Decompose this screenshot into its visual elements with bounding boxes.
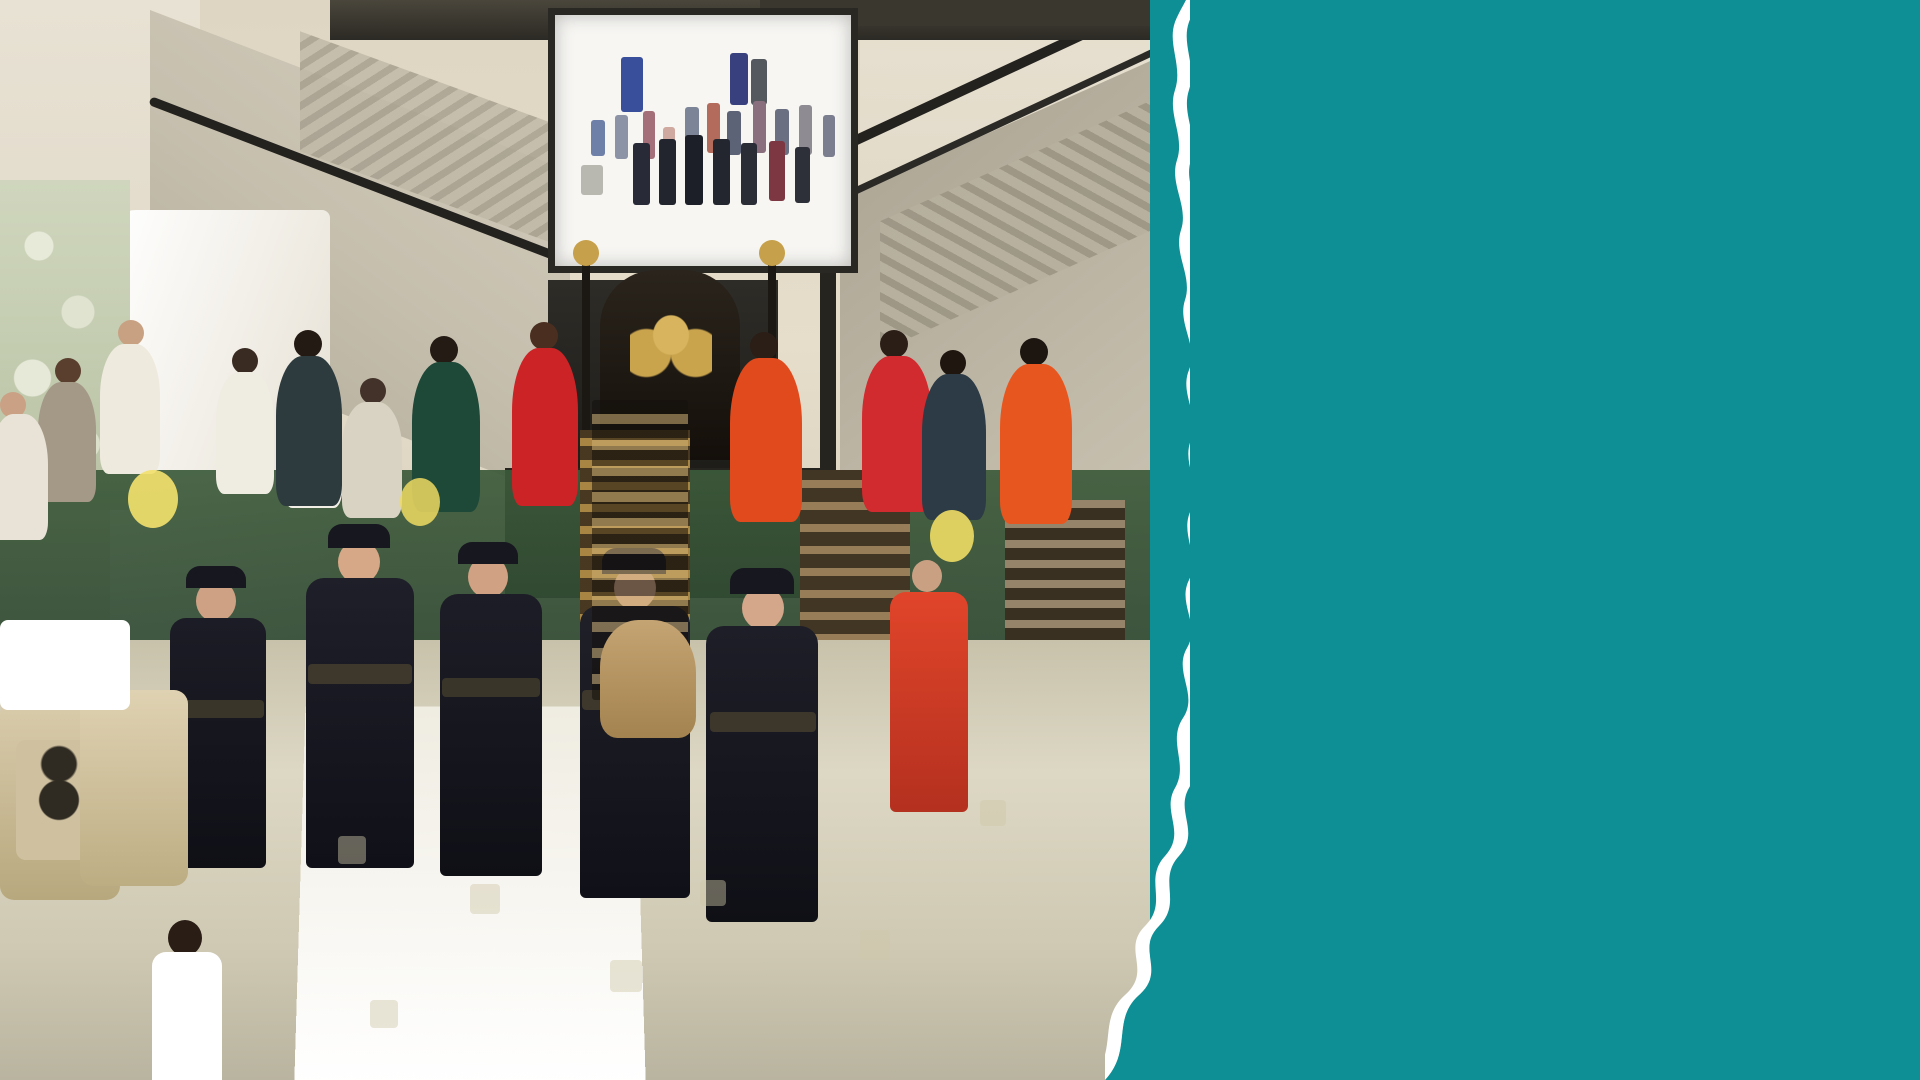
guest-head xyxy=(118,320,144,346)
guest-body xyxy=(512,348,578,506)
poster-canvas: MS.STUDIO.KZ 11.07.2025 Ілияс - Сайраш А… xyxy=(0,0,1920,1080)
dancer-belt xyxy=(442,678,540,697)
table-cloth xyxy=(0,620,130,710)
led-screen xyxy=(548,8,858,273)
throne-gold-ornament xyxy=(630,290,712,380)
decorated-chair xyxy=(80,690,188,886)
dancer-body xyxy=(706,626,818,922)
guest-head xyxy=(912,560,942,592)
dancer-belt xyxy=(308,664,412,684)
pole-finial-left xyxy=(573,240,599,266)
guest-body xyxy=(922,374,986,520)
guest-body xyxy=(276,356,342,506)
dancer-hat xyxy=(458,542,518,564)
guest-head xyxy=(232,348,258,374)
guest-body xyxy=(1000,364,1072,524)
pompom xyxy=(400,478,440,526)
guest-head xyxy=(55,358,81,384)
event-photo xyxy=(0,0,1190,1080)
guest-body xyxy=(0,414,48,540)
guest-body xyxy=(890,592,968,812)
dancer-body xyxy=(306,578,414,868)
guest-head xyxy=(1020,338,1048,366)
animal-figure xyxy=(600,620,696,738)
guest-body xyxy=(730,358,802,522)
child-body xyxy=(152,952,222,1080)
guest-head xyxy=(940,350,966,376)
pompom xyxy=(930,510,974,562)
guest-head xyxy=(430,336,458,364)
pole-finial-right xyxy=(759,240,785,266)
info-panel: MS.STUDIO.KZ 11.07.2025 Ілияс - Сайраш А… xyxy=(1190,0,1920,1080)
guest-head xyxy=(750,332,778,360)
pompom xyxy=(128,470,178,528)
guest-body xyxy=(342,402,402,518)
dancer-hat xyxy=(730,568,794,594)
dancer-hat xyxy=(186,566,246,588)
dancer-belt xyxy=(710,712,816,732)
guest-head xyxy=(530,322,558,350)
guest-head xyxy=(880,330,908,358)
guest-head xyxy=(294,330,322,358)
dancer-body xyxy=(440,594,542,876)
guest-body xyxy=(216,372,274,494)
child-head xyxy=(168,920,202,956)
guest-head xyxy=(360,378,386,404)
dancer-hat xyxy=(328,524,390,548)
guest-body xyxy=(100,344,160,474)
